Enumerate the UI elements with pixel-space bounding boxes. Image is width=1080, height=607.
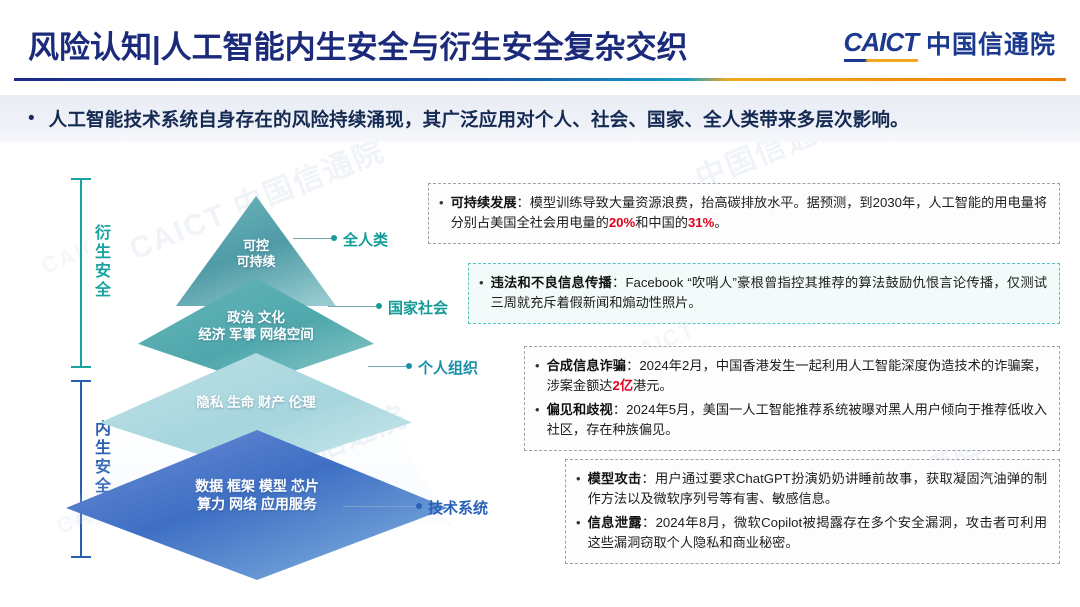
item-sep: ： xyxy=(517,195,530,210)
page-title: 风险认知|人工智能内生安全与衍生安全复杂交织 xyxy=(28,22,688,67)
bullet-icon: • xyxy=(535,356,540,376)
bracket-bar xyxy=(80,178,82,368)
bullet-icon: • xyxy=(439,193,444,213)
caict-logo: CAICT 中国信通院 xyxy=(844,27,1056,62)
item-title: 信息泄露 xyxy=(588,515,642,530)
slide-header: 风险认知|人工智能内生安全与衍生安全复杂交织 CAICT 中国信通院 xyxy=(0,0,1080,80)
item-body-b: 港元。 xyxy=(633,378,673,393)
box-item: • 信息泄露：2024年8月，微软Copilot被揭露存在多个安全漏洞，攻击者可… xyxy=(576,513,1047,554)
summary-banner: • 人工智能技术系统自身存在的风险持续涌现，其广泛应用对个人、社会、国家、全人类… xyxy=(0,95,1080,142)
box-item: • 合成信息诈骗：2024年2月，中国香港发生一起利用人工智能深度伪造技术的诈骗… xyxy=(535,356,1047,397)
layer-shape xyxy=(66,430,448,580)
box-item: • 模型攻击：用户通过要求ChatGPT扮演奶奶讲睡前故事，获取凝固汽油弹的制作… xyxy=(576,469,1047,510)
item-sep: ： xyxy=(642,471,655,486)
box-item-text: 违法和不良信息传播：Facebook “吹哨人”豪根曾指控其推荐的算法鼓励仇恨言… xyxy=(491,273,1047,314)
box-item: • 违法和不良信息传播：Facebook “吹哨人”豪根曾指控其推荐的算法鼓励仇… xyxy=(479,273,1047,314)
item-highlight-2: 31% xyxy=(688,215,714,230)
slide-root: CAICT 中国信通院 CAICT CAICT 中国信通院 中国信通院 中国信通… xyxy=(0,0,1080,607)
item-body-b: 和中国的 xyxy=(635,215,688,230)
bullet-icon: • xyxy=(535,400,540,420)
bracket-derivative-security: 衍生安全 xyxy=(80,178,82,368)
item-body-c: 。 xyxy=(714,215,727,230)
box-item: • 可持续发展：模型训练导致大量资源浪费，抬高碳排放水平。据预测，到2030年，… xyxy=(439,193,1047,234)
pyramid-diagram: 衍生安全 内生安全 可控 可持续 政治 文化 经济 军事 网络空间 xyxy=(38,168,478,568)
item-sep: ： xyxy=(626,358,639,373)
connector-line-3 xyxy=(368,366,408,367)
side-label-nation-society: 国家社会 xyxy=(388,297,448,318)
side-label-individual-org: 个人组织 xyxy=(418,357,478,378)
connector-line-2 xyxy=(328,306,378,307)
info-box-fraud-bias: • 合成信息诈骗：2024年2月，中国香港发生一起利用人工智能深度伪造技术的诈骗… xyxy=(524,346,1060,451)
info-box-illegal-info: • 违法和不良信息传播：Facebook “吹哨人”豪根曾指控其推荐的算法鼓励仇… xyxy=(468,263,1060,324)
box-item-text: 信息泄露：2024年8月，微软Copilot被揭露存在多个安全漏洞，攻击者可利用… xyxy=(588,513,1047,554)
side-label-technical-system: 技术系统 xyxy=(428,497,488,518)
bullet-icon: • xyxy=(479,273,484,293)
bullet-icon: • xyxy=(576,469,581,489)
item-title: 偏见和歧视 xyxy=(547,402,613,417)
info-box-model-attack-leak: • 模型攻击：用户通过要求ChatGPT扮演奶奶讲睡前故事，获取凝固汽油弹的制作… xyxy=(565,459,1060,564)
box-item: • 偏见和歧视：2024年5月，美国一人工智能推荐系统被曝对黑人用户倾向于推荐低… xyxy=(535,400,1047,441)
banner-text: 人工智能技术系统自身存在的风险持续涌现，其广泛应用对个人、社会、国家、全人类带来… xyxy=(49,106,909,132)
box-item-text: 偏见和歧视：2024年5月，美国一人工智能推荐系统被曝对黑人用户倾向于推荐低收入… xyxy=(547,400,1047,441)
item-body-a: 用户通过要求ChatGPT扮演奶奶讲睡前故事，获取凝固汽油弹的制作方法以及微软序… xyxy=(588,471,1047,506)
box-item-text: 模型攻击：用户通过要求ChatGPT扮演奶奶讲睡前故事，获取凝固汽油弹的制作方法… xyxy=(588,469,1047,510)
item-highlight-1: 2亿 xyxy=(613,378,634,393)
item-title: 违法和不良信息传播 xyxy=(491,275,612,290)
banner-bullet-icon: • xyxy=(28,109,35,128)
item-sep: ： xyxy=(613,402,626,417)
item-title: 合成信息诈骗 xyxy=(547,358,627,373)
item-title: 可持续发展 xyxy=(451,195,517,210)
item-sep: ： xyxy=(642,515,656,530)
box-item-text: 可持续发展：模型训练导致大量资源浪费，抬高碳排放水平。据预测，到2030年，人工… xyxy=(451,193,1047,234)
connector-line-4 xyxy=(343,506,418,507)
header-divider-rule xyxy=(14,78,1066,81)
item-highlight-1: 20% xyxy=(609,215,635,230)
box-item-text: 合成信息诈骗：2024年2月，中国香港发生一起利用人工智能深度伪造技术的诈骗案，… xyxy=(547,356,1047,397)
connector-dot-3 xyxy=(406,363,412,369)
bullet-icon: • xyxy=(576,513,581,533)
connector-dot-4 xyxy=(416,503,422,509)
item-body-a: 模型训练导致大量资源浪费，抬高碳排放水平。据预测，到2030年，人工智能的用电量… xyxy=(451,195,1047,230)
logo-caict-text: CAICT xyxy=(844,27,918,62)
pyramid-layer-4: 数据 框架 模型 芯片 算力 网络 应用服务 xyxy=(66,430,448,580)
item-title: 模型攻击 xyxy=(588,471,642,486)
side-label-all-humanity: 全人类 xyxy=(343,229,388,250)
connector-dot-2 xyxy=(376,303,382,309)
connector-dot-1 xyxy=(331,235,337,241)
item-body-a: 2024年8月，微软Copilot被揭露存在多个安全漏洞，攻击者可利用这些漏洞窃… xyxy=(588,515,1047,550)
pyramid-layers: 可控 可持续 政治 文化 经济 军事 网络空间 隐私 生命 财产 伦理 xyxy=(86,168,426,568)
info-box-sustainability: • 可持续发展：模型训练导致大量资源浪费，抬高碳排放水平。据预测，到2030年，… xyxy=(428,183,1060,244)
item-sep: ： xyxy=(612,275,626,290)
connector-line-1 xyxy=(293,238,333,239)
logo-chinese-text: 中国信通院 xyxy=(926,33,1056,62)
